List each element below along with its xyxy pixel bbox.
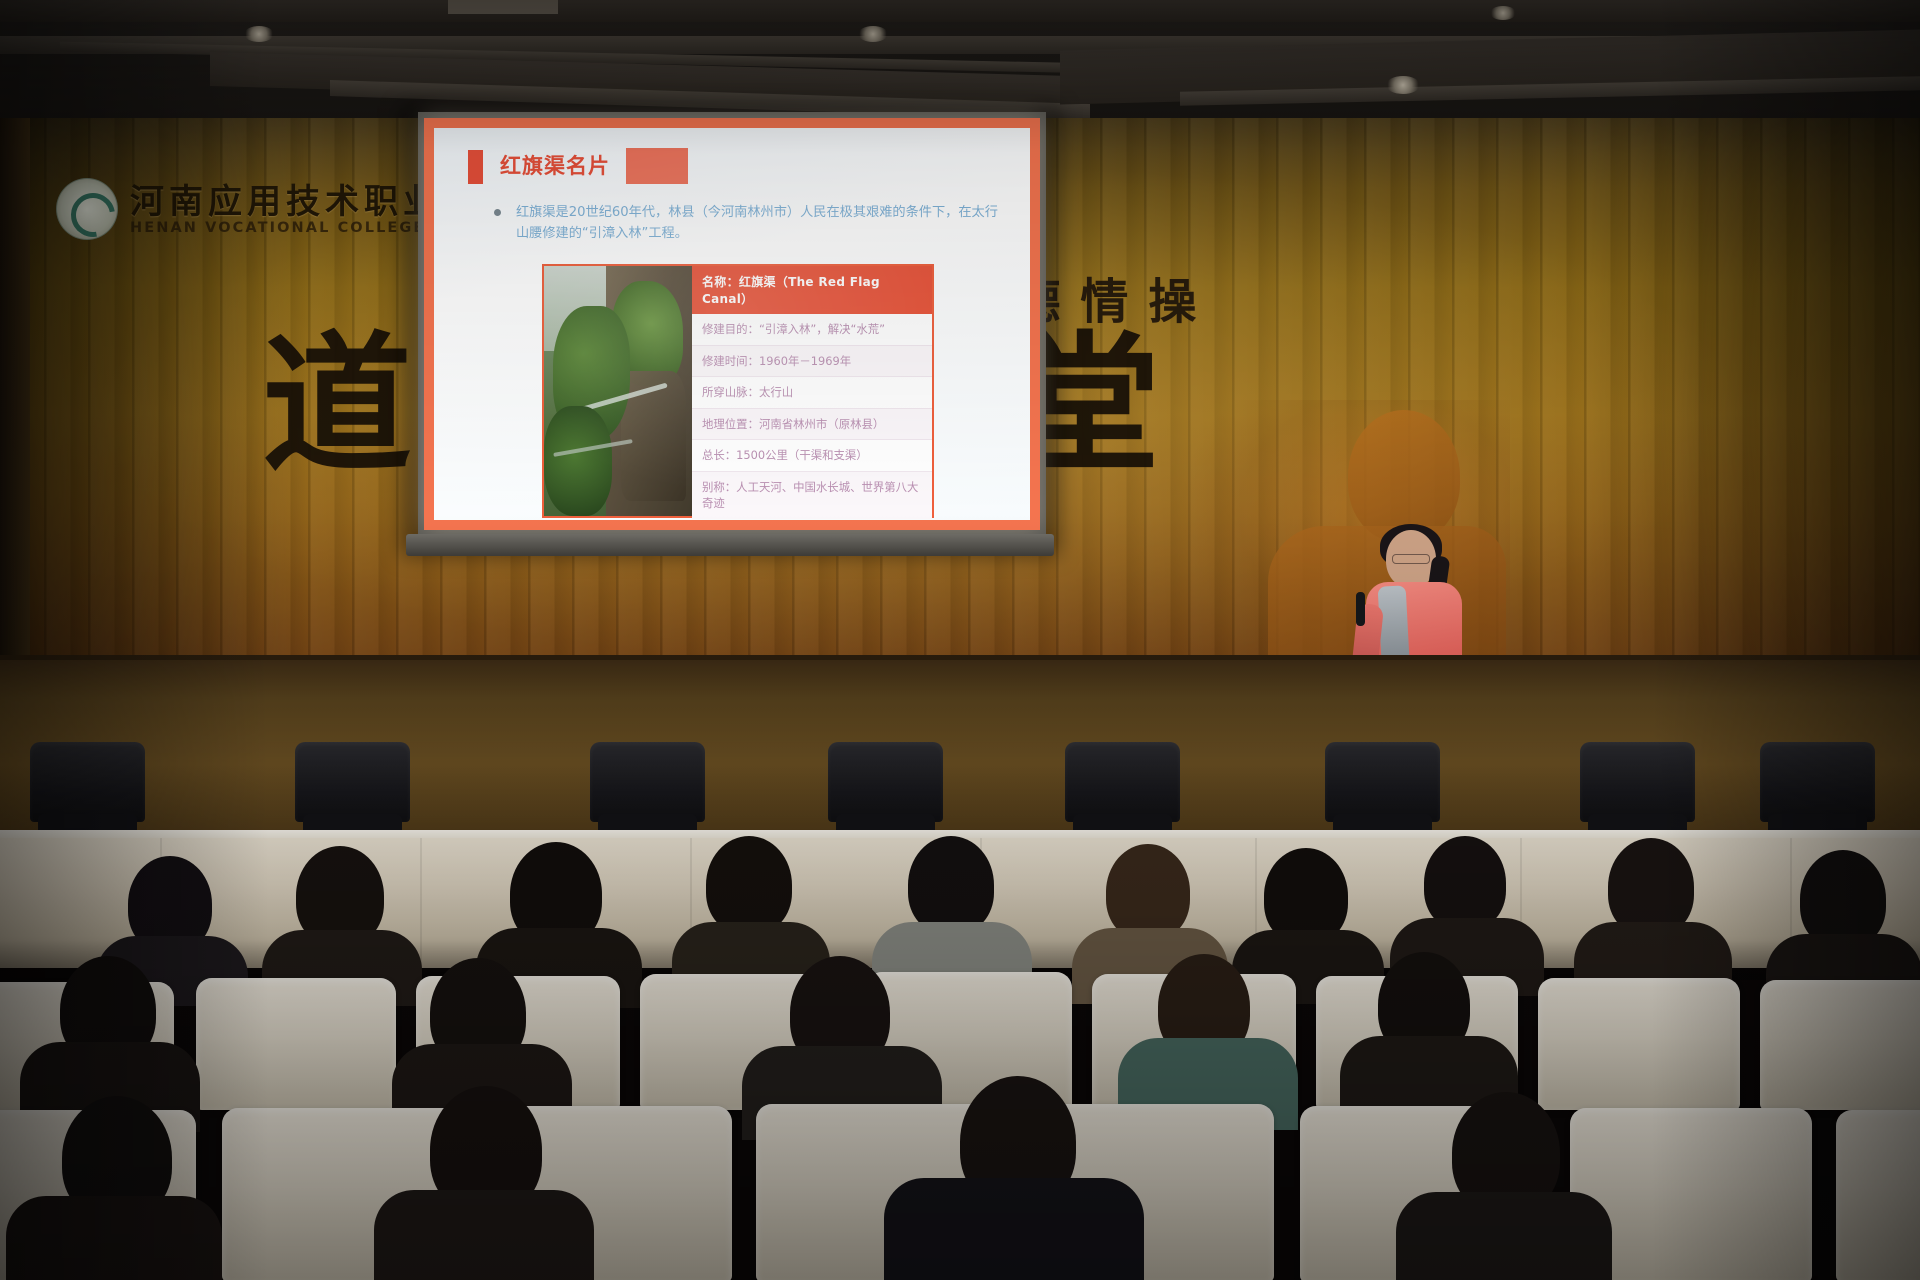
table-row: 总长：1500公里（干渠和支渠） bbox=[692, 440, 932, 472]
audience-seat bbox=[1538, 978, 1740, 1110]
stage-chair bbox=[828, 742, 943, 822]
stage-chair bbox=[1760, 742, 1875, 822]
table-row: 地理位置：河南省林州市（原林县） bbox=[692, 409, 932, 441]
audience-seat bbox=[1760, 980, 1920, 1110]
table-row: 修建目的：“引漳入林”，解决“水荒” bbox=[692, 314, 932, 346]
table-row: 修建时间：1960年－1969年 bbox=[692, 346, 932, 378]
audience-shoulders bbox=[374, 1190, 594, 1280]
canal-info-table: 名称：红旗渠（The Red Flag Canal） 修建目的：“引漳入林”，解… bbox=[692, 266, 932, 516]
presentation-slide: 红旗渠名片 红旗渠是20世纪60年代，林县（今河南林州市）人民在极其艰难的条件下… bbox=[424, 118, 1040, 530]
ceiling-light bbox=[1386, 76, 1420, 94]
wall-left-trim bbox=[0, 118, 30, 678]
audience-head bbox=[1424, 836, 1506, 930]
audience-seat bbox=[1836, 1110, 1920, 1280]
stage-chair bbox=[590, 742, 705, 822]
canal-photo bbox=[544, 266, 692, 516]
table-header: 名称：红旗渠（The Red Flag Canal） bbox=[692, 266, 932, 314]
stage-chair bbox=[1580, 742, 1695, 822]
college-logo-icon bbox=[56, 178, 118, 240]
slide-title: 红旗渠名片 bbox=[500, 150, 610, 180]
ceiling-light bbox=[244, 26, 274, 42]
title-accent-bar bbox=[468, 150, 483, 184]
audience-shoulders bbox=[6, 1196, 222, 1280]
audience-head bbox=[706, 836, 792, 934]
audience-seat bbox=[196, 978, 396, 1110]
audience-shoulders bbox=[1396, 1192, 1612, 1280]
audience-head bbox=[1106, 844, 1190, 940]
presenter-glasses bbox=[1392, 554, 1430, 564]
stage-chair bbox=[1065, 742, 1180, 822]
bullet-dot-icon bbox=[494, 209, 501, 216]
audience-area bbox=[0, 860, 1920, 1280]
canal-info-card: 名称：红旗渠（The Red Flag Canal） 修建目的：“引漳入林”，解… bbox=[542, 264, 934, 518]
slide-bullet: 红旗渠是20世纪60年代，林县（今河南林州市）人民在极其艰难的条件下，在太行山腰… bbox=[494, 202, 1006, 245]
auditorium-scene: 河南应用技术职业学院 HENAN VOCATIONAL COLLEGE OF A… bbox=[0, 0, 1920, 1280]
projection-screen: 红旗渠名片 红旗渠是20世纪60年代，林县（今河南林州市）人民在极其艰难的条件下… bbox=[424, 118, 1040, 530]
ceiling-light bbox=[858, 26, 888, 42]
ceiling-light bbox=[1490, 6, 1516, 20]
stage-chair bbox=[30, 742, 145, 822]
audience-shoulders bbox=[884, 1178, 1144, 1280]
stage-chair bbox=[1325, 742, 1440, 822]
title-decoration-block bbox=[626, 148, 688, 184]
calligraphy-left: 道 bbox=[262, 330, 412, 480]
slide-bullet-text: 红旗渠是20世纪60年代，林县（今河南林州市）人民在极其艰难的条件下，在太行山腰… bbox=[516, 202, 1006, 245]
stage-chair bbox=[295, 742, 410, 822]
screen-bottom-roller bbox=[406, 534, 1054, 556]
audience-head bbox=[908, 836, 994, 934]
microphone-icon bbox=[1356, 592, 1365, 626]
table-row: 别称：人工天河、中国水长城、世界第八大奇迹 bbox=[692, 472, 932, 519]
table-row: 所穿山脉：太行山 bbox=[692, 377, 932, 409]
